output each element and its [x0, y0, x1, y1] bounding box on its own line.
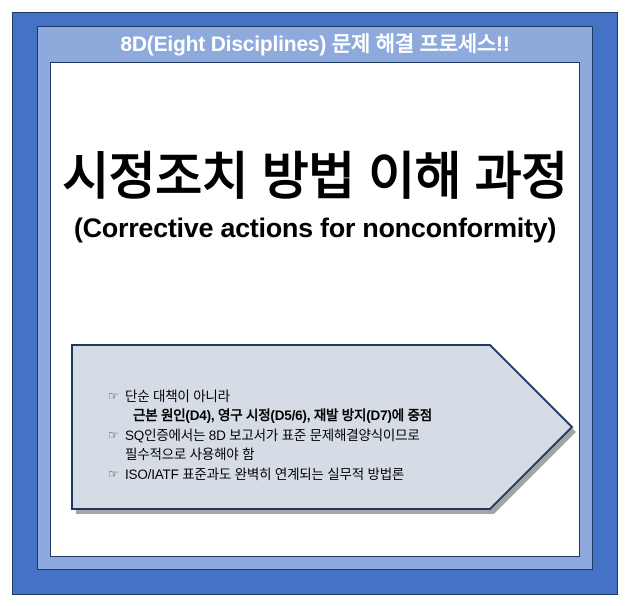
callout-bullet-list: ☞ 단순 대책이 아니라 근본 원인(D4), 영구 시정(D5/6), 재발 …	[108, 387, 538, 485]
list-item-body: ISO/IATF 표준과도 완벽히 연계되는 실무적 방법론	[125, 465, 538, 484]
list-item-line: 단순 대책이 아니라	[125, 387, 538, 406]
heading-group: 시정조치 방법 이해 과정 (Corrective actions for no…	[51, 148, 579, 244]
slide-outer-frame: 8D(Eight Disciplines) 문제 해결 프로세스!! 시정조치 …	[12, 12, 618, 595]
chevron-callout: ☞ 단순 대책이 아니라 근본 원인(D4), 영구 시정(D5/6), 재발 …	[72, 345, 572, 509]
pointing-hand-icon: ☞	[108, 426, 125, 445]
slide-content-canvas: 시정조치 방법 이해 과정 (Corrective actions for no…	[50, 62, 580, 557]
list-item-body: SQ인증에서는 8D 보고서가 표준 문제해결양식이므로 필수적으로 사용해야 …	[125, 426, 538, 464]
sub-heading: (Corrective actions for nonconformity)	[51, 214, 579, 244]
list-item-line: 필수적으로 사용해야 함	[125, 445, 538, 464]
pointing-hand-icon: ☞	[108, 465, 125, 484]
slide-inner-band: 8D(Eight Disciplines) 문제 해결 프로세스!! 시정조치 …	[37, 26, 593, 570]
pointing-hand-icon: ☞	[108, 387, 125, 406]
list-item-line: ISO/IATF 표준과도 완벽히 연계되는 실무적 방법론	[125, 465, 538, 484]
list-item: ☞ 단순 대책이 아니라 근본 원인(D4), 영구 시정(D5/6), 재발 …	[108, 387, 538, 425]
main-heading: 시정조치 방법 이해 과정	[51, 148, 579, 205]
slide-title-bar: 8D(Eight Disciplines) 문제 해결 프로세스!!	[38, 27, 592, 62]
list-item: ☞ ISO/IATF 표준과도 완벽히 연계되는 실무적 방법론	[108, 465, 538, 484]
list-item-line: 근본 원인(D4), 영구 시정(D5/6), 재발 방지(D7)에 중점	[125, 406, 538, 425]
list-item-line: SQ인증에서는 8D 보고서가 표준 문제해결양식이므로	[125, 426, 538, 445]
page-title: 8D(Eight Disciplines) 문제 해결 프로세스!!	[120, 34, 509, 55]
list-item: ☞ SQ인증에서는 8D 보고서가 표준 문제해결양식이므로 필수적으로 사용해…	[108, 426, 538, 464]
list-item-body: 단순 대책이 아니라 근본 원인(D4), 영구 시정(D5/6), 재발 방지…	[125, 387, 538, 425]
